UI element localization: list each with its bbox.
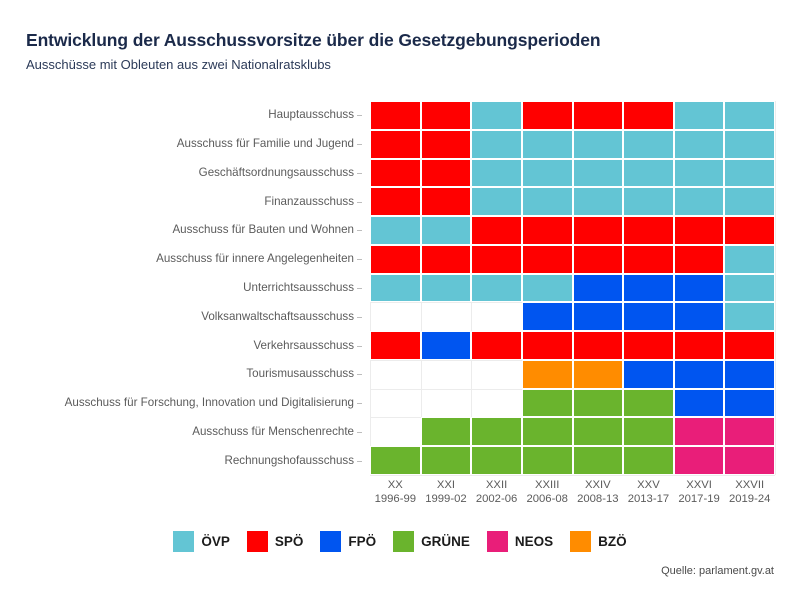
y-axis-tick-label: Ausschuss für Menschenrechte bbox=[0, 425, 362, 438]
x-axis-period-years: 2019-24 bbox=[724, 492, 775, 506]
y-axis-tick-mark bbox=[357, 202, 362, 203]
heatmap-cell bbox=[623, 389, 674, 418]
legend-swatch-icon bbox=[570, 531, 591, 552]
x-axis-tick-label: XXII2002-06 bbox=[471, 478, 522, 506]
heatmap-cell bbox=[522, 389, 573, 418]
legend-label: BZÖ bbox=[598, 534, 627, 549]
x-axis-period-roman: XXIII bbox=[522, 478, 573, 492]
legend-item-spö[interactable]: SPÖ bbox=[247, 531, 304, 552]
legend-item-övp[interactable]: ÖVP bbox=[173, 531, 230, 552]
y-axis-tick-mark bbox=[357, 317, 362, 318]
heatmap-cell bbox=[573, 130, 624, 159]
y-axis-tick-label: Ausschuss für Familie und Jugend bbox=[0, 137, 362, 150]
heatmap-cell bbox=[522, 417, 573, 446]
x-axis-tick-label: XX1996-99 bbox=[370, 478, 421, 506]
legend-item-grüne[interactable]: GRÜNE bbox=[393, 531, 470, 552]
heatmap-cell bbox=[522, 101, 573, 130]
heatmap-cell bbox=[522, 446, 573, 475]
heatmap-cell bbox=[724, 130, 775, 159]
heatmap-cell bbox=[623, 360, 674, 389]
heatmap-cell bbox=[573, 360, 624, 389]
heatmap-cell bbox=[370, 274, 421, 303]
x-axis-period-roman: XX bbox=[370, 478, 421, 492]
heatmap-cell bbox=[674, 101, 725, 130]
heatmap-cell bbox=[522, 187, 573, 216]
page-subtitle: Ausschüsse mit Obleuten aus zwei Nationa… bbox=[26, 57, 331, 72]
heatmap-cell bbox=[573, 446, 624, 475]
x-axis-labels: XX1996-99XXI1999-02XXII2002-06XXIII2006-… bbox=[370, 478, 775, 514]
heatmap-cell bbox=[522, 331, 573, 360]
legend-swatch-icon bbox=[487, 531, 508, 552]
heatmap-cell-empty bbox=[471, 360, 522, 389]
heatmap-cell bbox=[724, 216, 775, 245]
legend-swatch-icon bbox=[247, 531, 268, 552]
x-axis-period-years: 2013-17 bbox=[623, 492, 674, 506]
y-axis-tick-mark bbox=[357, 173, 362, 174]
x-axis-tick-label: XXIII2006-08 bbox=[522, 478, 573, 506]
heatmap-cell bbox=[522, 360, 573, 389]
x-axis-period-roman: XXII bbox=[471, 478, 522, 492]
heatmap-cell bbox=[573, 331, 624, 360]
heatmap-cell-empty bbox=[471, 302, 522, 331]
heatmap-cell bbox=[674, 331, 725, 360]
y-axis-tick-label: Tourismusausschuss bbox=[0, 367, 362, 380]
y-axis-tick-label: Rechnungshofausschuss bbox=[0, 454, 362, 467]
y-axis-tick-mark bbox=[357, 374, 362, 375]
heatmap-cell bbox=[421, 446, 472, 475]
y-axis-tick-label: Unterrichtsausschuss bbox=[0, 281, 362, 294]
heatmap-cell bbox=[471, 245, 522, 274]
heatmap-cell bbox=[674, 389, 725, 418]
heatmap-cell bbox=[724, 101, 775, 130]
heatmap-cell bbox=[674, 274, 725, 303]
heatmap-cell bbox=[674, 245, 725, 274]
y-axis-tick-mark bbox=[357, 432, 362, 433]
heatmap-cell bbox=[724, 417, 775, 446]
heatmap-cell bbox=[724, 274, 775, 303]
y-axis-tick-mark bbox=[357, 403, 362, 404]
heatmap-cell bbox=[421, 331, 472, 360]
heatmap-cell bbox=[522, 302, 573, 331]
heatmap-cell bbox=[421, 274, 472, 303]
heatmap-cell bbox=[522, 274, 573, 303]
gridline-vertical bbox=[775, 101, 776, 475]
heatmap-cell bbox=[674, 360, 725, 389]
x-axis-tick-label: XXV2013-17 bbox=[623, 478, 674, 506]
heatmap-cell bbox=[724, 360, 775, 389]
heatmap-cell bbox=[623, 245, 674, 274]
x-axis-period-years: 2002-06 bbox=[471, 492, 522, 506]
heatmap-cell bbox=[573, 274, 624, 303]
legend: ÖVPSPÖFPÖGRÜNENEOSBZÖ bbox=[0, 528, 800, 554]
heatmap-cell-empty bbox=[421, 302, 472, 331]
source-attribution: Quelle: parlament.gv.at bbox=[661, 565, 774, 577]
heatmap-cell bbox=[674, 417, 725, 446]
heatmap-cell bbox=[471, 130, 522, 159]
heatmap-cells bbox=[370, 101, 775, 475]
heatmap-cell bbox=[471, 417, 522, 446]
x-axis-period-roman: XXIV bbox=[573, 478, 624, 492]
heatmap-cell bbox=[573, 101, 624, 130]
heatmap-cell bbox=[522, 245, 573, 274]
heatmap-cell-empty bbox=[421, 360, 472, 389]
heatmap-cell bbox=[522, 130, 573, 159]
heatmap-cell bbox=[421, 130, 472, 159]
y-axis-labels: HauptausschussAusschuss für Familie und … bbox=[0, 101, 362, 475]
heatmap-cell bbox=[573, 417, 624, 446]
heatmap-cell-empty bbox=[370, 360, 421, 389]
heatmap-cell bbox=[724, 245, 775, 274]
x-axis-period-roman: XXV bbox=[623, 478, 674, 492]
x-axis-tick-label: XXVI2017-19 bbox=[674, 478, 725, 506]
heatmap-cell bbox=[471, 101, 522, 130]
heatmap-cell bbox=[623, 130, 674, 159]
heatmap-cell bbox=[421, 187, 472, 216]
heatmap-cell-empty bbox=[370, 302, 421, 331]
heatmap-cell bbox=[421, 159, 472, 188]
heatmap-cell bbox=[674, 130, 725, 159]
legend-item-neos[interactable]: NEOS bbox=[487, 531, 553, 552]
heatmap-cell bbox=[623, 187, 674, 216]
heatmap-cell bbox=[623, 331, 674, 360]
x-axis-period-years: 2006-08 bbox=[522, 492, 573, 506]
heatmap-cell bbox=[724, 187, 775, 216]
x-axis-period-years: 2017-19 bbox=[674, 492, 725, 506]
y-axis-tick-label: Ausschuss für Bauten und Wohnen bbox=[0, 223, 362, 236]
heatmap-cell bbox=[623, 302, 674, 331]
heatmap-cell bbox=[674, 187, 725, 216]
heatmap-cell bbox=[370, 187, 421, 216]
heatmap-cell bbox=[623, 446, 674, 475]
heatmap-cell bbox=[370, 216, 421, 245]
legend-label: NEOS bbox=[515, 534, 553, 549]
y-axis-tick-label: Finanzausschuss bbox=[0, 195, 362, 208]
page-title: Entwicklung der Ausschussvorsitze über d… bbox=[26, 30, 600, 51]
heatmap-cell bbox=[471, 331, 522, 360]
y-axis-tick-label: Geschäftsordnungsausschuss bbox=[0, 166, 362, 179]
y-axis-tick-mark bbox=[357, 144, 362, 145]
x-axis-period-years: 2008-13 bbox=[573, 492, 624, 506]
heatmap-cell bbox=[623, 101, 674, 130]
heatmap-cell bbox=[623, 216, 674, 245]
x-axis-tick-label: XXVII2019-24 bbox=[724, 478, 775, 506]
heatmap-cell bbox=[573, 302, 624, 331]
chart-page: Entwicklung der Ausschussvorsitze über d… bbox=[0, 0, 800, 600]
heatmap-cell bbox=[522, 159, 573, 188]
heatmap-plot-area bbox=[370, 101, 775, 475]
heatmap-cell bbox=[724, 302, 775, 331]
heatmap-cell bbox=[573, 187, 624, 216]
legend-label: ÖVP bbox=[201, 534, 230, 549]
x-axis-period-roman: XXVII bbox=[724, 478, 775, 492]
heatmap-cell bbox=[573, 216, 624, 245]
heatmap-cell bbox=[370, 130, 421, 159]
legend-label: GRÜNE bbox=[421, 534, 470, 549]
heatmap-cell bbox=[522, 216, 573, 245]
y-axis-tick-mark bbox=[357, 259, 362, 260]
y-axis-tick-label: Hauptausschuss bbox=[0, 108, 362, 121]
y-axis-tick-label: Ausschuss für Forschung, Innovation und … bbox=[0, 396, 362, 409]
heatmap-cell bbox=[724, 331, 775, 360]
y-axis-tick-label: Ausschuss für innere Angelegenheiten bbox=[0, 252, 362, 265]
heatmap-cell bbox=[471, 159, 522, 188]
y-axis-tick-mark bbox=[357, 461, 362, 462]
heatmap-cell bbox=[724, 389, 775, 418]
legend-label: SPÖ bbox=[275, 534, 304, 549]
y-axis-tick-label: Verkehrsausschuss bbox=[0, 339, 362, 352]
y-axis-tick-label: Volksanwaltschaftsausschuss bbox=[0, 310, 362, 323]
x-axis-period-roman: XXI bbox=[421, 478, 472, 492]
legend-label: FPÖ bbox=[348, 534, 376, 549]
heatmap-cell bbox=[421, 417, 472, 446]
heatmap-cell bbox=[421, 216, 472, 245]
y-axis-tick-mark bbox=[357, 115, 362, 116]
x-axis-period-years: 1996-99 bbox=[370, 492, 421, 506]
heatmap-cell-empty bbox=[421, 389, 472, 418]
heatmap-cell bbox=[471, 274, 522, 303]
heatmap-cell bbox=[421, 101, 472, 130]
heatmap-cell bbox=[471, 187, 522, 216]
legend-swatch-icon bbox=[320, 531, 341, 552]
heatmap-cell bbox=[370, 101, 421, 130]
heatmap-cell bbox=[370, 331, 421, 360]
heatmap-cell bbox=[471, 216, 522, 245]
heatmap-cell bbox=[573, 245, 624, 274]
heatmap-cell-empty bbox=[370, 417, 421, 446]
y-axis-tick-mark bbox=[357, 346, 362, 347]
heatmap-cell bbox=[370, 245, 421, 274]
x-axis-tick-label: XXIV2008-13 bbox=[573, 478, 624, 506]
heatmap-cell-empty bbox=[370, 389, 421, 418]
heatmap-cell bbox=[623, 417, 674, 446]
x-axis-period-years: 1999-02 bbox=[421, 492, 472, 506]
heatmap-cell bbox=[674, 159, 725, 188]
y-axis-tick-mark bbox=[357, 288, 362, 289]
heatmap-cell bbox=[724, 159, 775, 188]
heatmap-cell bbox=[623, 274, 674, 303]
heatmap-cell bbox=[623, 159, 674, 188]
heatmap-cell bbox=[573, 389, 624, 418]
heatmap-cell bbox=[674, 446, 725, 475]
heatmap-cell-empty bbox=[471, 389, 522, 418]
heatmap-cell bbox=[674, 302, 725, 331]
heatmap-cell bbox=[421, 245, 472, 274]
heatmap-cell bbox=[370, 446, 421, 475]
heatmap-cell bbox=[674, 216, 725, 245]
gridline-horizontal bbox=[370, 475, 775, 476]
heatmap-cell bbox=[724, 446, 775, 475]
heatmap-cell bbox=[370, 159, 421, 188]
legend-item-bzö[interactable]: BZÖ bbox=[570, 531, 627, 552]
heatmap-cell bbox=[573, 159, 624, 188]
legend-item-fpö[interactable]: FPÖ bbox=[320, 531, 376, 552]
legend-swatch-icon bbox=[393, 531, 414, 552]
x-axis-tick-label: XXI1999-02 bbox=[421, 478, 472, 506]
heatmap-cell bbox=[471, 446, 522, 475]
y-axis-tick-mark bbox=[357, 230, 362, 231]
legend-swatch-icon bbox=[173, 531, 194, 552]
x-axis-period-roman: XXVI bbox=[674, 478, 725, 492]
